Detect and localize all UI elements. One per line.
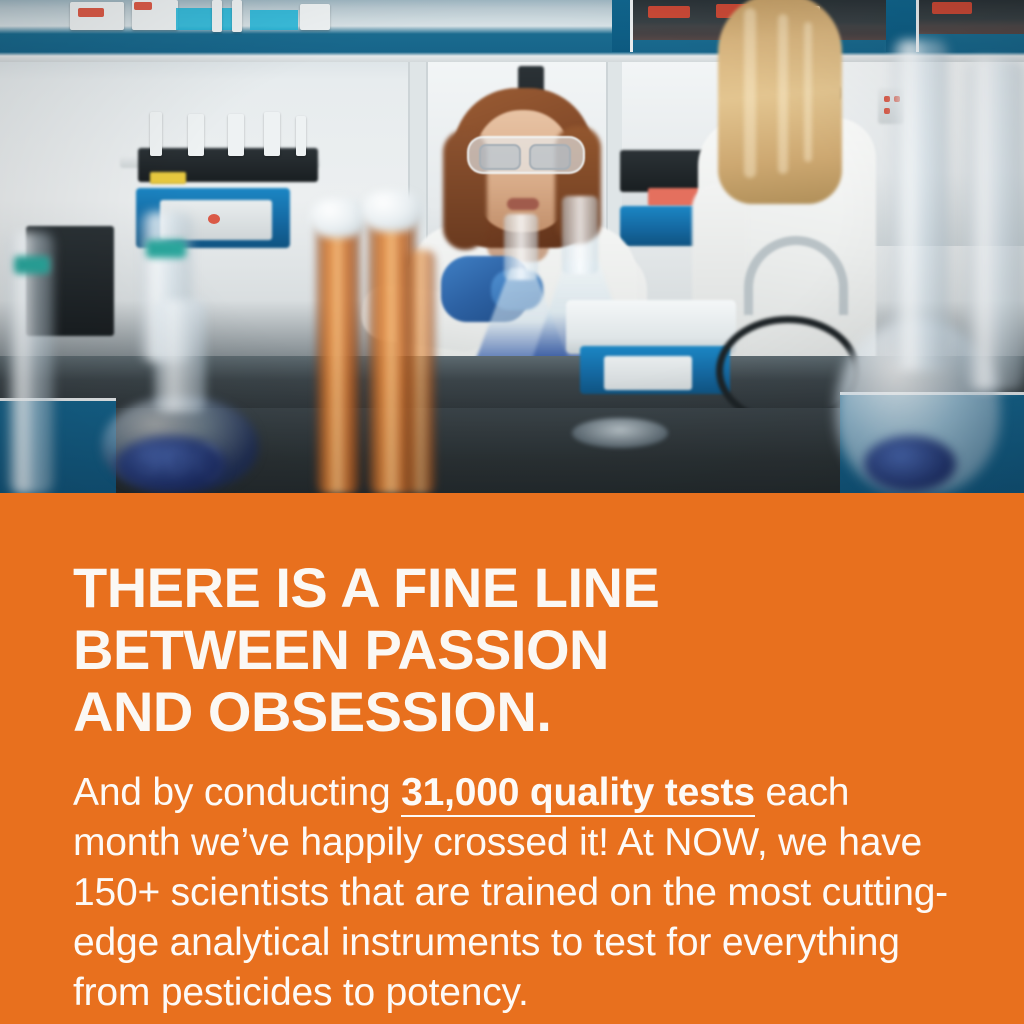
shelf-label-red-a	[78, 8, 104, 17]
flask-500-neck	[154, 300, 206, 412]
petri-dish	[572, 418, 668, 448]
laboratory-photo: 500	[0, 0, 1024, 493]
shelf-label-red-c	[648, 6, 690, 18]
test-tube-c	[228, 114, 244, 156]
safety-goggles-icon	[467, 136, 585, 174]
test-tube-b	[188, 114, 204, 156]
hair-highlight-b	[778, 14, 788, 174]
test-tube-e	[296, 116, 306, 156]
shelf-liquid-cyan-a	[176, 8, 238, 30]
test-tube-d	[264, 112, 280, 156]
body-highlight-stat: 31,000 quality tests	[401, 771, 755, 817]
foreground-teal-cap-b	[146, 240, 186, 258]
foreground-glass-column-c	[892, 40, 948, 370]
flask-neck	[562, 196, 598, 274]
under-bench-display	[604, 356, 692, 390]
shelf-bottle-c	[300, 4, 330, 30]
shelf-divider-a	[212, 0, 222, 32]
shelf-label-red-e	[932, 2, 972, 14]
upper-cabinet-door-left	[612, 0, 633, 52]
foreground-teal-cap-a	[14, 256, 50, 274]
foreground-glass-column-d	[966, 60, 1024, 390]
poster-canvas: 500 There is a fine line between passion…	[0, 0, 1024, 1024]
foreground-blue-liquid-b	[116, 436, 226, 492]
body-copy: And by conducting 31,000 quality tests e…	[73, 768, 953, 1018]
headline: There is a fine line between passion and…	[73, 557, 973, 743]
rack-yellow-tag	[150, 172, 186, 184]
shelf-liquid-cyan-b	[250, 10, 298, 30]
foreground-amber-column-c	[406, 250, 436, 493]
orange-message-panel: There is a fine line between passion and…	[0, 493, 1024, 1024]
body-lead: And by conducting	[73, 771, 401, 814]
left-instrument-indicator	[208, 214, 220, 224]
test-tube-a	[150, 112, 162, 156]
foreground-amber-cap-b	[362, 190, 422, 232]
foreground-blue-liquid	[864, 436, 956, 492]
foreground-amber-cap-a	[310, 198, 366, 238]
hair-highlight-c	[804, 22, 812, 162]
hair-highlight-a	[744, 8, 756, 178]
shelf-label-red-b	[134, 2, 152, 10]
foreground-amber-column-a	[316, 218, 360, 493]
shelf-divider-b	[232, 0, 242, 32]
